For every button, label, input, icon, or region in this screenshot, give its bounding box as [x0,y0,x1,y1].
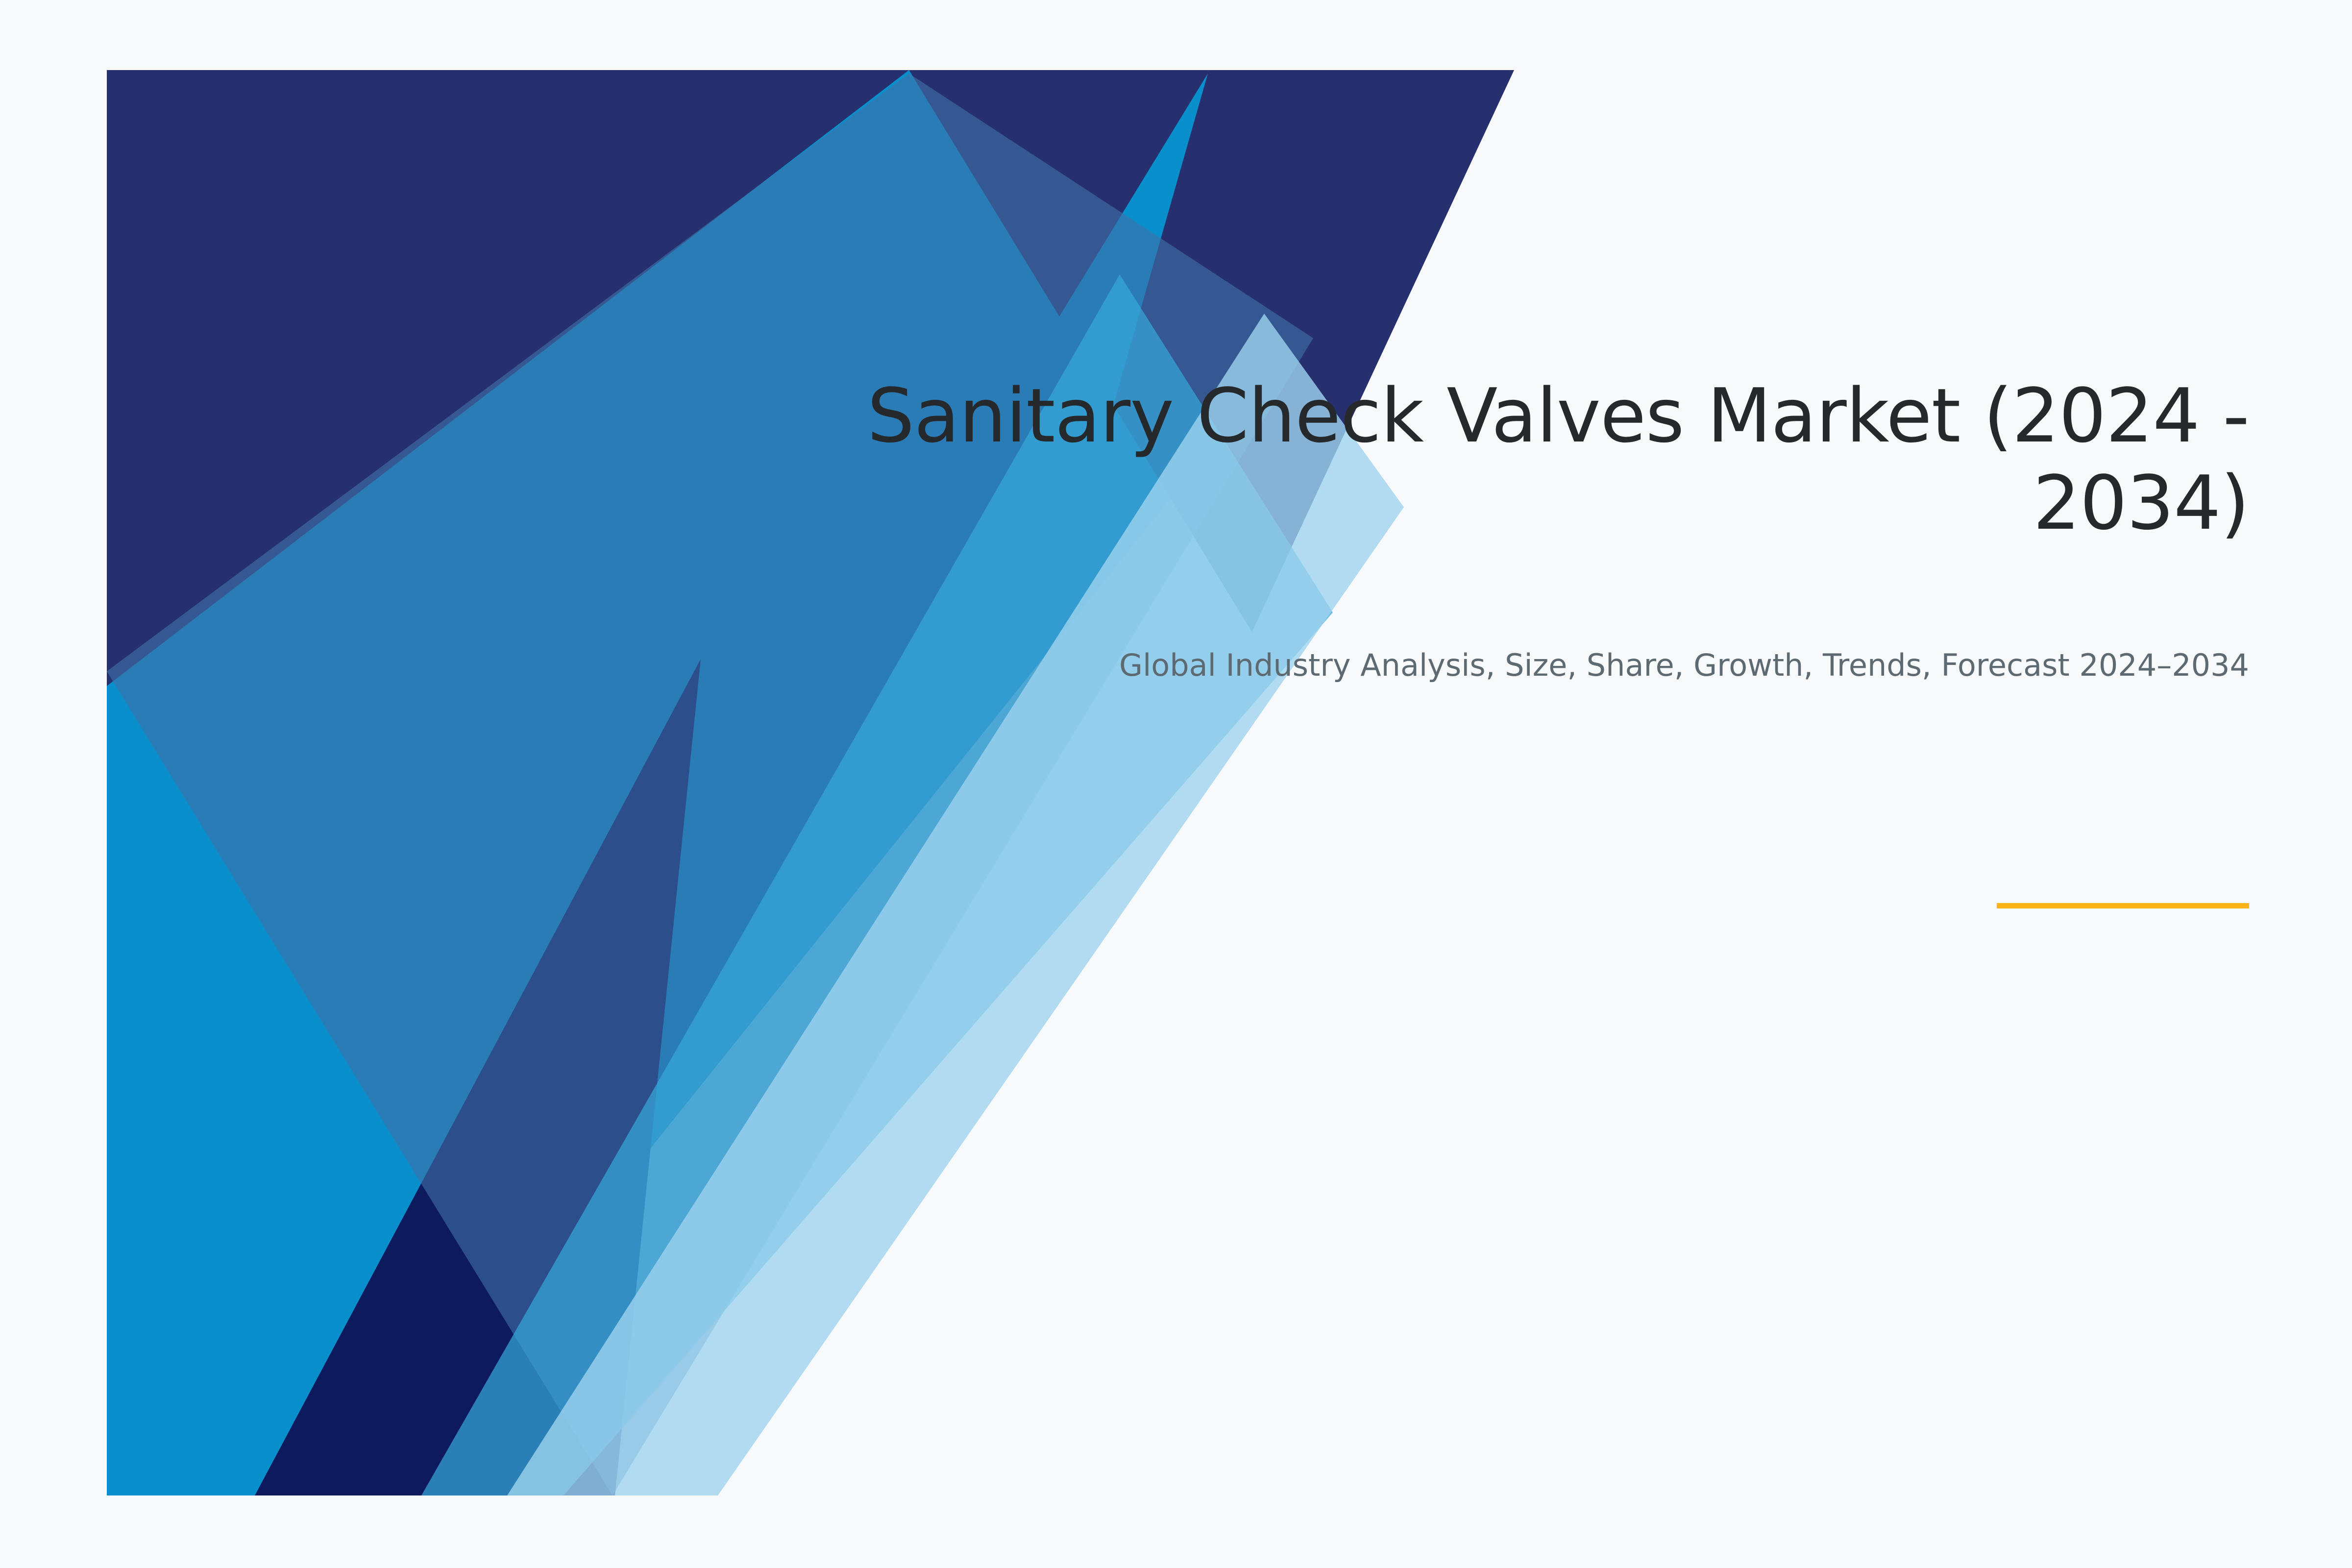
banner-shape-group [107,70,1514,1495]
report-cover-slide: Sanitary Check Valves Market (2024 - 203… [0,0,2352,1568]
page-title: Sanitary Check Valves Market (2024 - 203… [828,372,2249,547]
page-subtitle: Global Industry Analysis, Size, Share, G… [828,547,2249,685]
abstract-geometric-banner [0,0,2352,1568]
cover-text-block: Sanitary Check Valves Market (2024 - 203… [828,372,2249,685]
title-accent-rule [1997,903,2249,908]
